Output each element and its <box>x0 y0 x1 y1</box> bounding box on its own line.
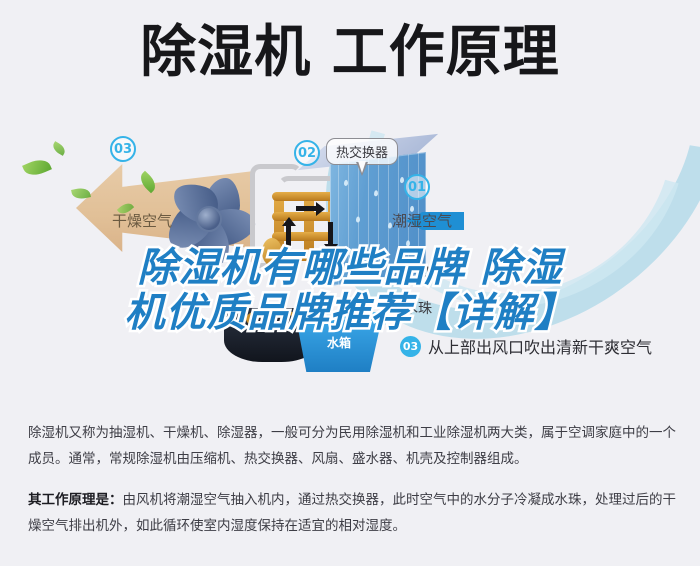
water-tank-label: 水箱 <box>296 334 382 351</box>
article-body: 除湿机又称为抽湿机、干燥机、除湿器，一般可分为民用除湿机和工业除湿机两大类，属于… <box>28 420 676 539</box>
base-coil-icon <box>246 308 298 330</box>
article-paragraph-2-rest: 由风机将潮湿空气抽入机内，通过热交换器，此时空气中的水分子冷凝成水珠，处理过后的… <box>28 492 676 534</box>
step-03-line: 03 从上部出风口吹出清新干爽空气 <box>400 334 652 358</box>
step-03-badge: 03 <box>400 336 421 357</box>
page-title: 除湿机 工作原理 <box>140 24 560 83</box>
inhale-note: 口吸 <box>416 262 444 282</box>
article-paragraph-2: 其工作原理是：由风机将潮湿空气抽入机内，通过热交换器，此时空气中的水分子冷凝成水… <box>28 487 676 540</box>
step-badge-03: 03 <box>110 136 136 162</box>
step-badge-01: 01 <box>404 174 430 200</box>
airflow-arrow-down-icon <box>328 222 333 244</box>
callout-tail-icon <box>356 162 368 176</box>
page-root: 除湿机 工作原理 <box>0 0 700 566</box>
airflow-arrow-right-icon <box>296 206 316 211</box>
article-paragraph-1: 除湿机又称为抽湿机、干燥机、除湿器，一般可分为民用除湿机和工业除湿机两大类，属于… <box>28 420 676 473</box>
article-paragraph-2-lead: 其工作原理是： <box>28 492 123 508</box>
fan-icon <box>162 172 258 268</box>
step-03-text: 从上部出风口吹出清新干爽空气 <box>428 334 652 358</box>
airflow-arrow-up-icon <box>286 226 291 248</box>
dry-air-label: 干燥空气 <box>112 210 172 231</box>
condense-note: 成水珠 <box>390 298 432 318</box>
leaf-icon <box>51 141 68 156</box>
step-badge-02: 02 <box>294 140 320 166</box>
humid-air-label: 潮湿空气 <box>392 210 452 231</box>
page-title-wrap: 除湿机 工作原理 <box>0 24 700 83</box>
principle-diagram: 水箱 01 02 03 热交换器 潮湿空气 干燥空气 口吸 成水珠 03 从上部… <box>0 112 700 402</box>
leaf-icon <box>22 155 52 179</box>
